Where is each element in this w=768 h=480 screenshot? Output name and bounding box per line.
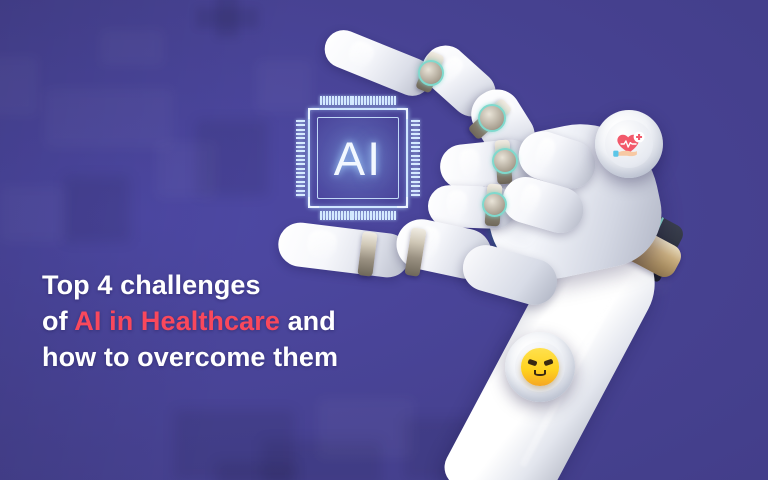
banner-root: AI Top 4 challenges of AI in Healthc [0,0,768,480]
badge-healthcare-heart [595,110,663,178]
mouth [534,370,547,376]
eyebrow-left [527,358,537,365]
badge-smiley [505,332,575,402]
joint-ring-icon [482,192,507,217]
page-title: Top 4 challenges of AI in Healthcare and… [42,268,442,376]
smiling-face-icon [521,348,558,385]
headline-accent: AI in Healthcare [74,306,280,336]
headline-line-2: of AI in Healthcare and [42,304,442,340]
robotic-hand [300,0,768,480]
headline-line-2-prefix: of [42,306,74,336]
joint-ring-icon [478,104,506,132]
headline-line-1: Top 4 challenges [42,268,442,304]
heart-in-hand-icon [608,123,650,165]
badge-inner-disc [515,342,565,392]
chip-label: AI [296,96,420,220]
headline-line-2-suffix: and [280,306,336,336]
badge-inner-disc [605,120,654,169]
eyebrow-right [543,358,553,365]
ai-chip-icon: AI [296,96,420,220]
headline-line-3: how to overcome them [42,340,442,376]
joint-ring-icon [492,148,518,174]
